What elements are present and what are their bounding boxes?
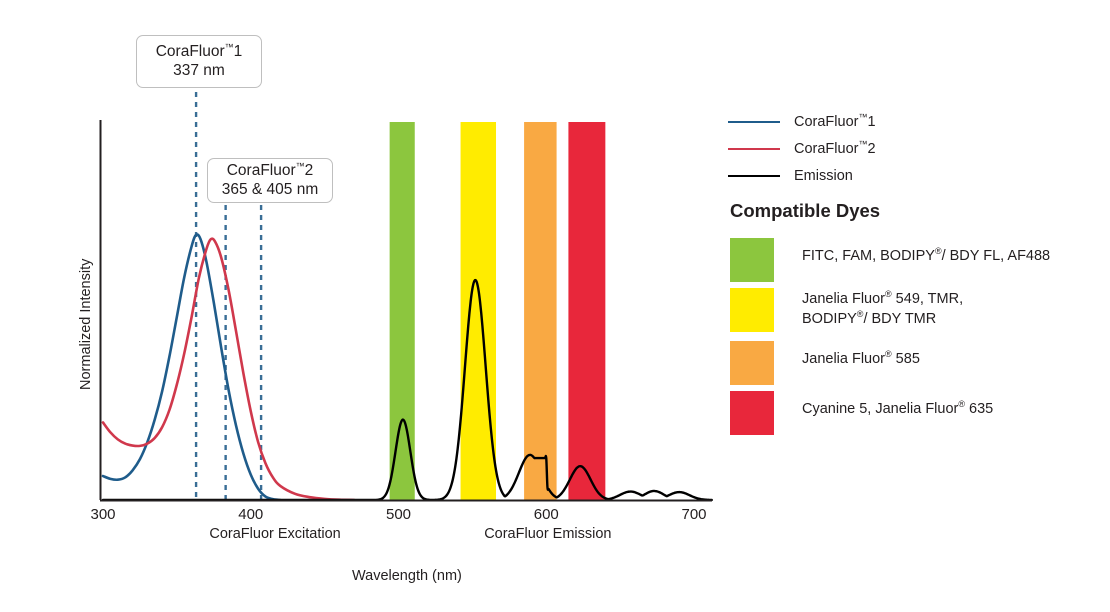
emission-bands-layer bbox=[390, 122, 606, 500]
series-legend: CoraFluor™1CoraFluor™2Emission bbox=[728, 108, 1098, 189]
legend-item-2[interactable]: Emission bbox=[728, 162, 1098, 189]
compatible-dyes-heading: Compatible Dyes bbox=[730, 200, 880, 222]
legend-item-0[interactable]: CoraFluor™1 bbox=[728, 108, 1098, 135]
registered-mark: ® bbox=[935, 246, 942, 256]
annotation-box-corafluor1: CoraFluor™1 337 nm bbox=[136, 35, 262, 88]
dye-color-swatch-1 bbox=[730, 288, 774, 332]
emission-band-0 bbox=[390, 122, 415, 500]
x-tick-label-700: 700 bbox=[664, 506, 724, 523]
figure-root: CoraFluor™1 337 nm CoraFluor™2 365 & 405… bbox=[0, 0, 1110, 612]
dye-label-1: Janelia Fluor® 549, TMR,BODIPY®/ BDY TMR bbox=[802, 288, 963, 329]
dye-label-3: Cyanine 5, Janelia Fluor® 635 bbox=[802, 391, 993, 420]
annotation-box1-line1: CoraFluor™1 bbox=[156, 43, 243, 61]
x-tick-label-600: 600 bbox=[516, 506, 576, 523]
dye-label-2: Janelia Fluor® 585 bbox=[802, 341, 920, 370]
dye-label-line1-3: Cyanine 5, Janelia Fluor® 635 bbox=[802, 400, 993, 420]
emission-band-3 bbox=[568, 122, 605, 500]
dye-row-0[interactable]: FITC, FAM, BODIPY®/ BDY FL, AF488 bbox=[730, 238, 1050, 282]
legend-swatch-line-2 bbox=[728, 175, 780, 177]
dye-label-line1-1: Janelia Fluor® 549, TMR, bbox=[802, 290, 963, 310]
dye-label-line1-2: Janelia Fluor® 585 bbox=[802, 350, 920, 370]
annotation-box1-line2: 337 nm bbox=[173, 62, 225, 80]
annotation-box-corafluor2: CoraFluor™2 365 & 405 nm bbox=[207, 158, 333, 203]
dye-label-line1-0: FITC, FAM, BODIPY®/ BDY FL, AF488 bbox=[802, 247, 1050, 267]
legend-swatch-line-1 bbox=[728, 148, 780, 150]
legend-item-1[interactable]: CoraFluor™2 bbox=[728, 135, 1098, 162]
y-axis-label: Normalized Intensity bbox=[78, 259, 94, 390]
annotation-box2-line2: 365 & 405 nm bbox=[222, 181, 319, 199]
emission-band-2 bbox=[524, 122, 557, 500]
dye-color-swatch-0 bbox=[730, 238, 774, 282]
x-axis-label: Wavelength (nm) bbox=[352, 568, 462, 584]
legend-label-0: CoraFluor™1 bbox=[794, 114, 876, 130]
curve-corafluor2 bbox=[103, 239, 354, 500]
trademark-mark: ™ bbox=[858, 139, 867, 149]
dye-label-line2-1: BODIPY®/ BDY TMR bbox=[802, 310, 963, 330]
trademark-mark: ™ bbox=[858, 112, 867, 122]
x-tick-label-300: 300 bbox=[73, 506, 133, 523]
legend-label-2: Emission bbox=[794, 168, 853, 184]
registered-mark: ® bbox=[958, 399, 965, 409]
dye-row-3[interactable]: Cyanine 5, Janelia Fluor® 635 bbox=[730, 391, 993, 435]
x-tick-label-500: 500 bbox=[369, 506, 429, 523]
legend-swatch-line-0 bbox=[728, 121, 780, 123]
x-tick-label-400: 400 bbox=[221, 506, 281, 523]
emission-band-1 bbox=[461, 122, 496, 500]
dye-color-swatch-2 bbox=[730, 341, 774, 385]
registered-mark: ® bbox=[857, 309, 864, 319]
dye-label-0: FITC, FAM, BODIPY®/ BDY FL, AF488 bbox=[802, 238, 1050, 267]
dye-color-swatch-3 bbox=[730, 391, 774, 435]
dye-row-1[interactable]: Janelia Fluor® 549, TMR,BODIPY®/ BDY TMR bbox=[730, 288, 963, 332]
curve-corafluor1 bbox=[103, 234, 280, 500]
registered-mark: ® bbox=[885, 289, 892, 299]
dye-row-2[interactable]: Janelia Fluor® 585 bbox=[730, 341, 920, 385]
legend-label-1: CoraFluor™2 bbox=[794, 141, 876, 157]
annotation-box2-line1: CoraFluor™2 bbox=[227, 162, 314, 180]
registered-mark: ® bbox=[885, 349, 892, 359]
